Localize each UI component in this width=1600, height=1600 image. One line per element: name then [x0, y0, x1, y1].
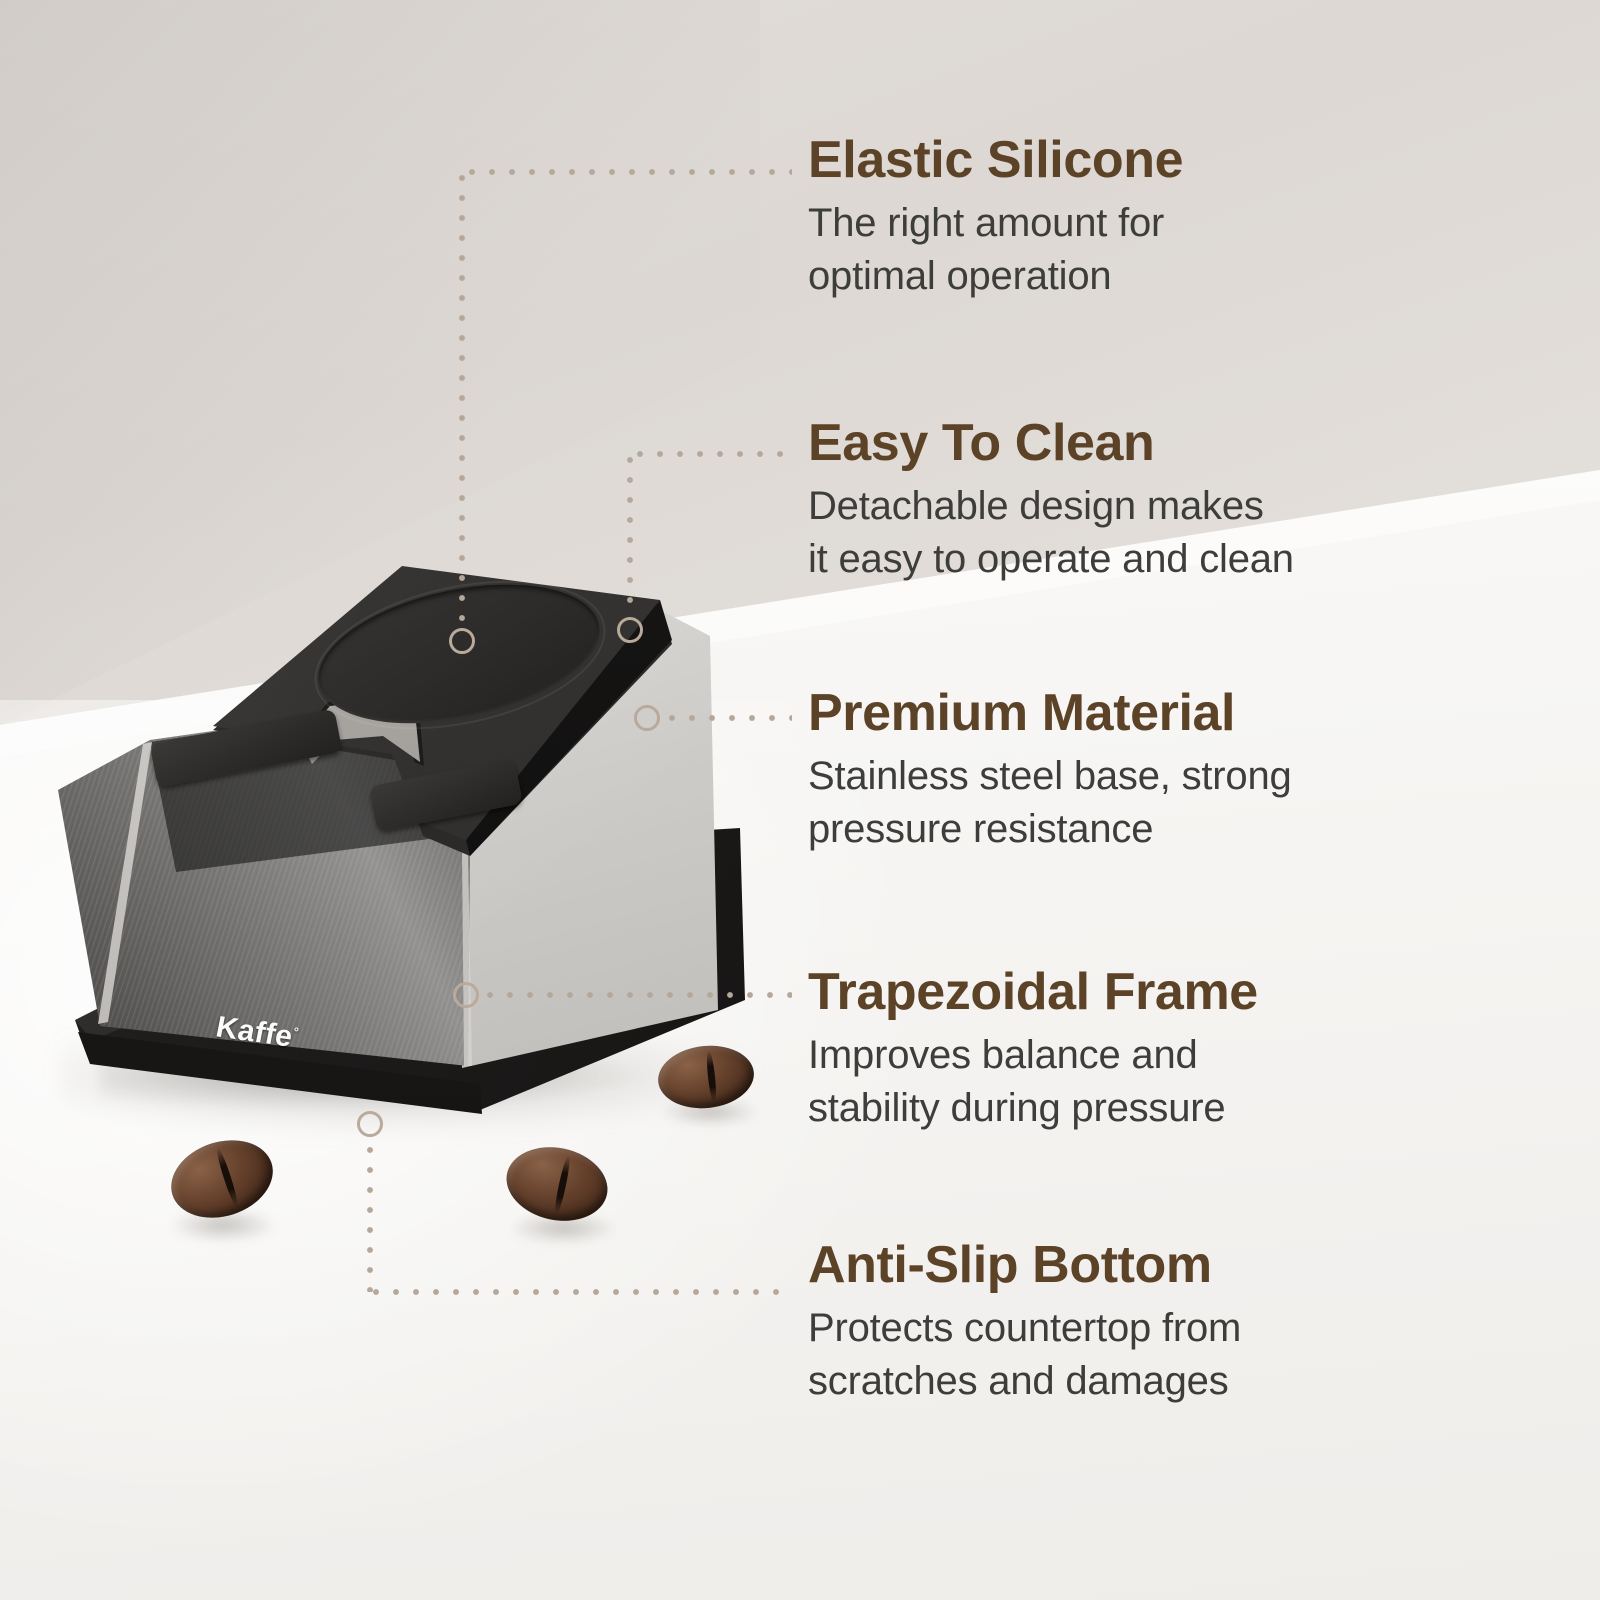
feature-desc-line: pressure resistance: [808, 803, 1600, 856]
connector-elastic-silicone-horizontal: [462, 168, 792, 176]
marker-premium-material: [634, 705, 660, 731]
feature-desc-line: Stainless steel base, strong: [808, 750, 1600, 803]
marker-trapezoidal-frame: [453, 982, 479, 1008]
connector-anti-slip-horizontal: [366, 1288, 792, 1296]
feature-premium-material: Premium Material Stainless steel base, s…: [808, 686, 1600, 856]
feature-anti-slip-bottom: Anti-Slip Bottom Protects countertop fro…: [808, 1238, 1600, 1408]
feature-elastic-silicone: Elastic Silicone The right amount for op…: [808, 133, 1600, 303]
feature-desc-line: The right amount for: [808, 197, 1600, 250]
feature-easy-to-clean: Easy To Clean Detachable design makes it…: [808, 416, 1600, 586]
marker-easy-to-clean: [617, 617, 643, 643]
feature-description: Stainless steel base, strong pressure re…: [808, 750, 1600, 856]
feature-desc-line: optimal operation: [808, 250, 1600, 303]
feature-list: Elastic Silicone The right amount for op…: [808, 0, 1600, 1600]
feature-title: Premium Material: [808, 686, 1600, 741]
feature-description: Detachable design makes it easy to opera…: [808, 480, 1600, 586]
feature-description: The right amount for optimal operation: [808, 197, 1600, 303]
connector-easy-to-clean-horizontal: [630, 450, 792, 458]
connector-premium-material-horizontal: [662, 714, 792, 722]
marker-elastic-silicone: [449, 628, 475, 654]
feature-desc-line: stability during pressure: [808, 1082, 1600, 1135]
feature-desc-line: Improves balance and: [808, 1029, 1600, 1082]
feature-desc-line: it easy to operate and clean: [808, 533, 1600, 586]
feature-title: Anti-Slip Bottom: [808, 1238, 1600, 1293]
feature-desc-line: Protects countertop from: [808, 1302, 1600, 1355]
feature-title: Trapezoidal Frame: [808, 965, 1600, 1020]
feature-description: Protects countertop from scratches and d…: [808, 1302, 1600, 1408]
feature-title: Elastic Silicone: [808, 133, 1600, 188]
marker-anti-slip-bottom: [357, 1111, 383, 1137]
feature-desc-line: scratches and damages: [808, 1355, 1600, 1408]
feature-title: Easy To Clean: [808, 416, 1600, 471]
connector-easy-to-clean-vertical: [626, 450, 634, 618]
connector-elastic-silicone-vertical: [458, 168, 466, 628]
connector-anti-slip-vertical: [366, 1140, 374, 1292]
connector-trapezoidal-frame-horizontal: [480, 991, 792, 999]
feature-desc-line: Detachable design makes: [808, 480, 1600, 533]
feature-trapezoidal-frame: Trapezoidal Frame Improves balance and s…: [808, 965, 1600, 1135]
feature-description: Improves balance and stability during pr…: [808, 1029, 1600, 1135]
